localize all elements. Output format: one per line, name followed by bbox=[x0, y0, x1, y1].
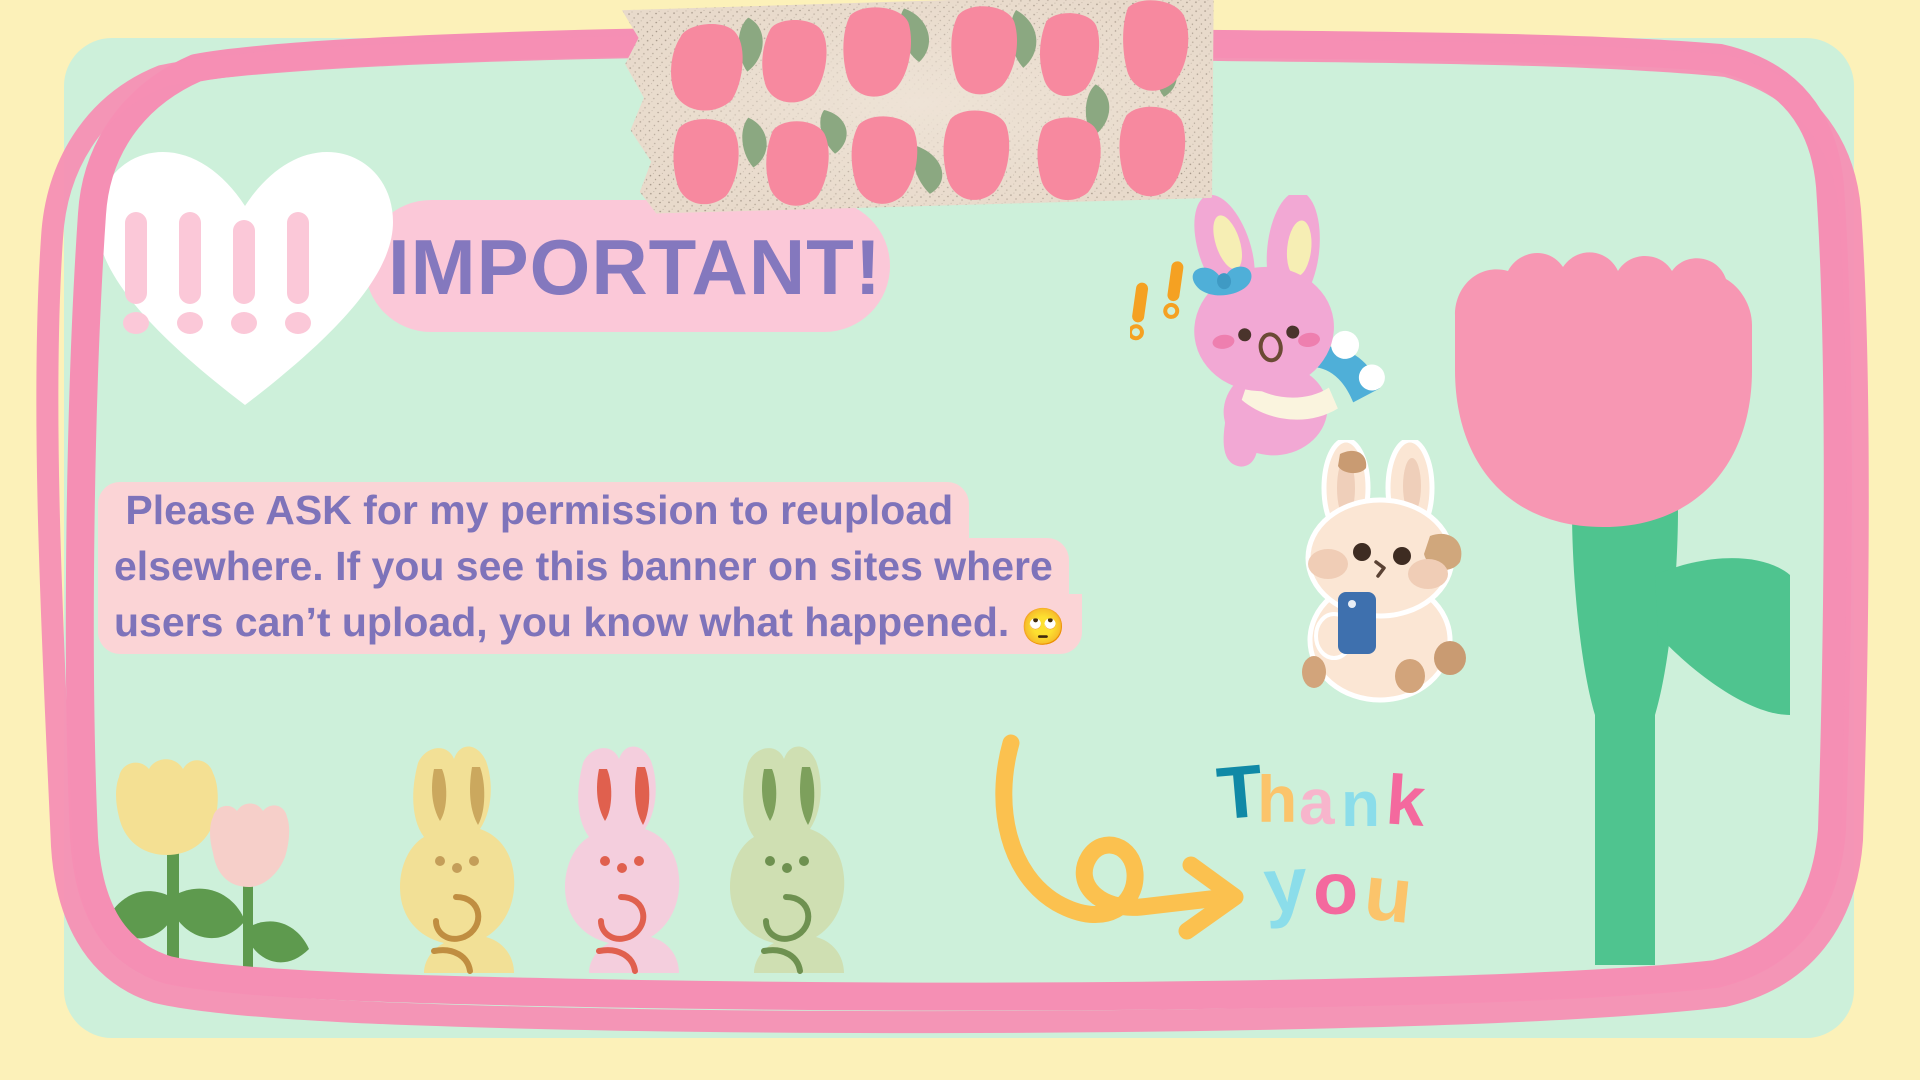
body-line-3-text: users can’t upload, you know what happen… bbox=[114, 599, 1021, 645]
yellow-bunny-cookie-icon bbox=[390, 745, 520, 980]
rolling-eyes-emoji: 🙄 bbox=[1021, 606, 1066, 647]
thank-you-text: T h a n k y o u bbox=[1215, 752, 1515, 947]
beige-bunny-with-phone-icon bbox=[1280, 440, 1480, 705]
svg-text:o: o bbox=[1313, 847, 1358, 930]
svg-text:a: a bbox=[1299, 766, 1335, 838]
pink-bunny-cookie-icon bbox=[555, 745, 685, 980]
page-title: IMPORTANT! bbox=[388, 214, 888, 319]
washi-tape-icon bbox=[618, 0, 1222, 217]
green-bunny-cookie-icon bbox=[720, 745, 850, 980]
white-heart-icon bbox=[95, 150, 395, 410]
body-line-1: Please ASK for my permission to reupload bbox=[98, 482, 969, 541]
body-text-block: Please ASK for my permission to reupload… bbox=[98, 482, 960, 654]
svg-text:k: k bbox=[1384, 760, 1428, 841]
svg-text:u: u bbox=[1360, 847, 1417, 939]
banner-root: IMPORTANT! bbox=[0, 0, 1920, 1080]
svg-text:y: y bbox=[1261, 839, 1310, 930]
svg-text:n: n bbox=[1341, 768, 1380, 840]
svg-text:h: h bbox=[1257, 762, 1297, 836]
body-line-3: users can’t upload, you know what happen… bbox=[98, 594, 1082, 655]
body-line-2: elsewhere. If you see this banner on sit… bbox=[98, 538, 1069, 597]
pink-bunny-icon bbox=[1145, 195, 1400, 475]
small-tulips-icon bbox=[95, 755, 315, 980]
